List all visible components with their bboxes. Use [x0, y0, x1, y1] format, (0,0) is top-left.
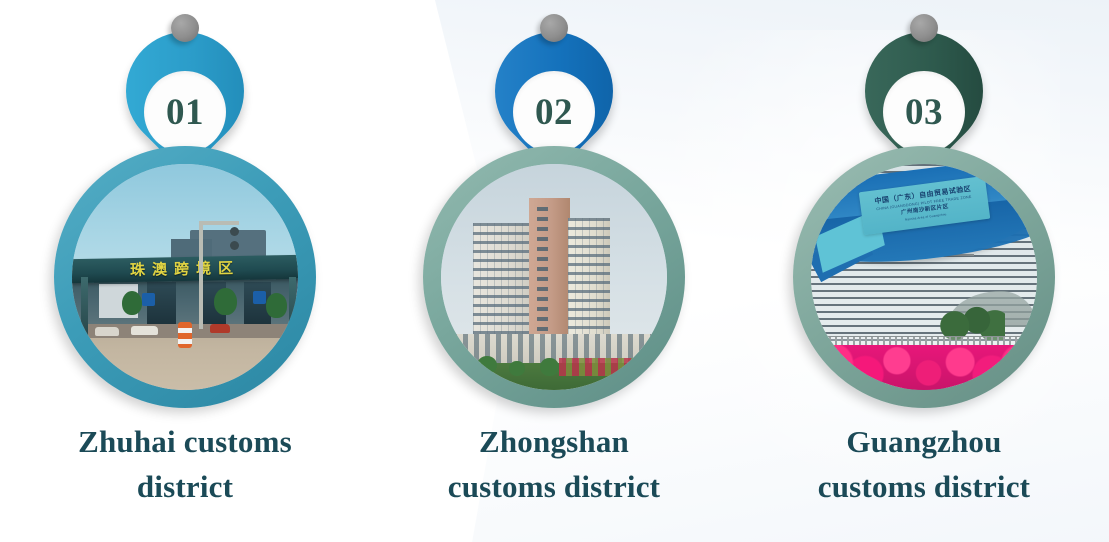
- guangzhou-free-trade-zone-monument-photo: 中国（广东）自由贸易试验区 CHINA (GUANGDONG) PILOT FR…: [811, 164, 1037, 390]
- pin-number-badge: 03: [883, 71, 965, 153]
- gate-sign: 珠澳跨境区: [72, 254, 298, 282]
- caption-line-2: customs district: [387, 465, 721, 510]
- pin-head-icon: [540, 14, 568, 42]
- photo-ring-zhongshan: [423, 146, 685, 408]
- card-number: 02: [535, 94, 573, 131]
- caption-line-1: Zhuhai customs: [18, 420, 352, 465]
- gate-sign-text: 珠澳跨境区: [72, 254, 298, 282]
- card-number: 03: [905, 94, 943, 131]
- caption-line-2: district: [18, 465, 352, 510]
- caption-line-1: Guangzhou: [757, 420, 1091, 465]
- card-zhuhai[interactable]: 01: [0, 0, 370, 542]
- card-number: 01: [166, 94, 204, 131]
- pin-number-badge: 02: [513, 71, 595, 153]
- caption-zhuhai: Zhuhai customs district: [0, 420, 370, 510]
- pin-head-icon: [171, 14, 199, 42]
- zhongshan-office-tower-photo: [441, 164, 667, 390]
- zhuhai-border-crossing-gate-photo: 珠澳跨境区: [72, 164, 298, 390]
- caption-line-1: Zhongshan: [387, 420, 721, 465]
- photo-ring-zhuhai: 珠澳跨境区: [54, 146, 316, 408]
- pin-number-badge: 01: [144, 71, 226, 153]
- card-zhongshan[interactable]: 02 Zhongshan cust: [369, 0, 739, 542]
- card-guangzhou[interactable]: 03 中国（广东）自由贸易试验区 CHIN: [739, 0, 1109, 542]
- infographic-canvas: 01: [0, 0, 1109, 542]
- caption-line-2: customs district: [757, 465, 1091, 510]
- caption-guangzhou: Guangzhou customs district: [739, 420, 1109, 510]
- pin-head-icon: [910, 14, 938, 42]
- caption-zhongshan: Zhongshan customs district: [369, 420, 739, 510]
- photo-ring-guangzhou: 中国（广东）自由贸易试验区 CHINA (GUANGDONG) PILOT FR…: [793, 146, 1055, 408]
